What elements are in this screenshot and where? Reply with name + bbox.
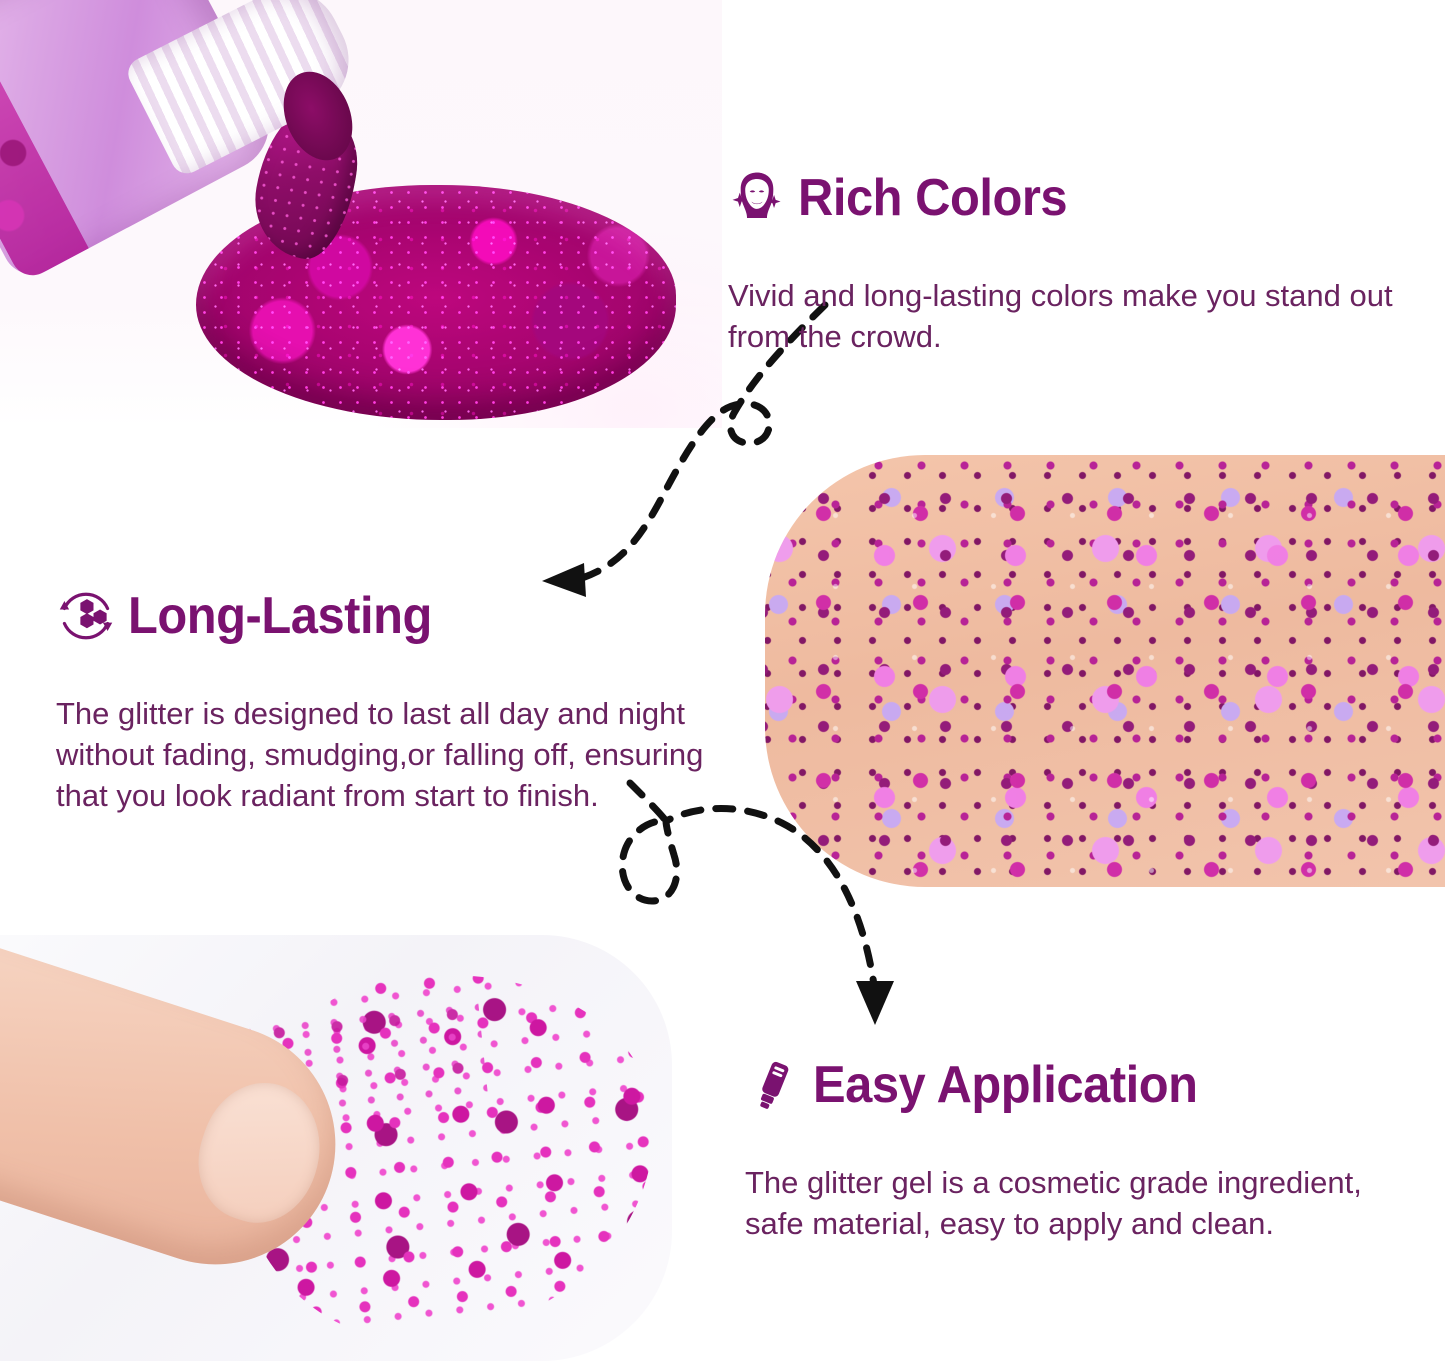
feature-easy-application: Easy Application The glitter gel is a co… <box>745 1015 1405 1244</box>
hexagons-cycle-arrows-icon <box>56 586 116 646</box>
photo-finger-smear <box>0 935 672 1361</box>
feature-title: Easy Application <box>813 1058 1198 1113</box>
fingernail <box>182 1068 337 1238</box>
feature-description: Vivid and long-lasting colors make you s… <box>728 275 1418 357</box>
feature-title: Long-Lasting <box>128 589 432 644</box>
feature-heading-row: Easy Application <box>745 1015 1405 1156</box>
feature-heading-row: Rich Colors <box>728 128 1418 269</box>
feature-description: The glitter gel is a cosmetic grade ingr… <box>745 1162 1405 1244</box>
feature-long-lasting: Long-Lasting The glitter is designed to … <box>56 546 732 817</box>
feature-title: Rich Colors <box>798 171 1067 226</box>
woman-face-sparkle-icon <box>728 169 786 227</box>
cosmetic-tube-icon <box>745 1057 801 1113</box>
feature-description: The glitter is designed to last all day … <box>56 693 732 817</box>
feature-rich-colors: Rich Colors Vivid and long-lasting color… <box>728 128 1418 357</box>
feature-heading-row: Long-Lasting <box>56 546 732 687</box>
infographic-canvas: Rich Colors Vivid and long-lasting color… <box>0 0 1445 1361</box>
